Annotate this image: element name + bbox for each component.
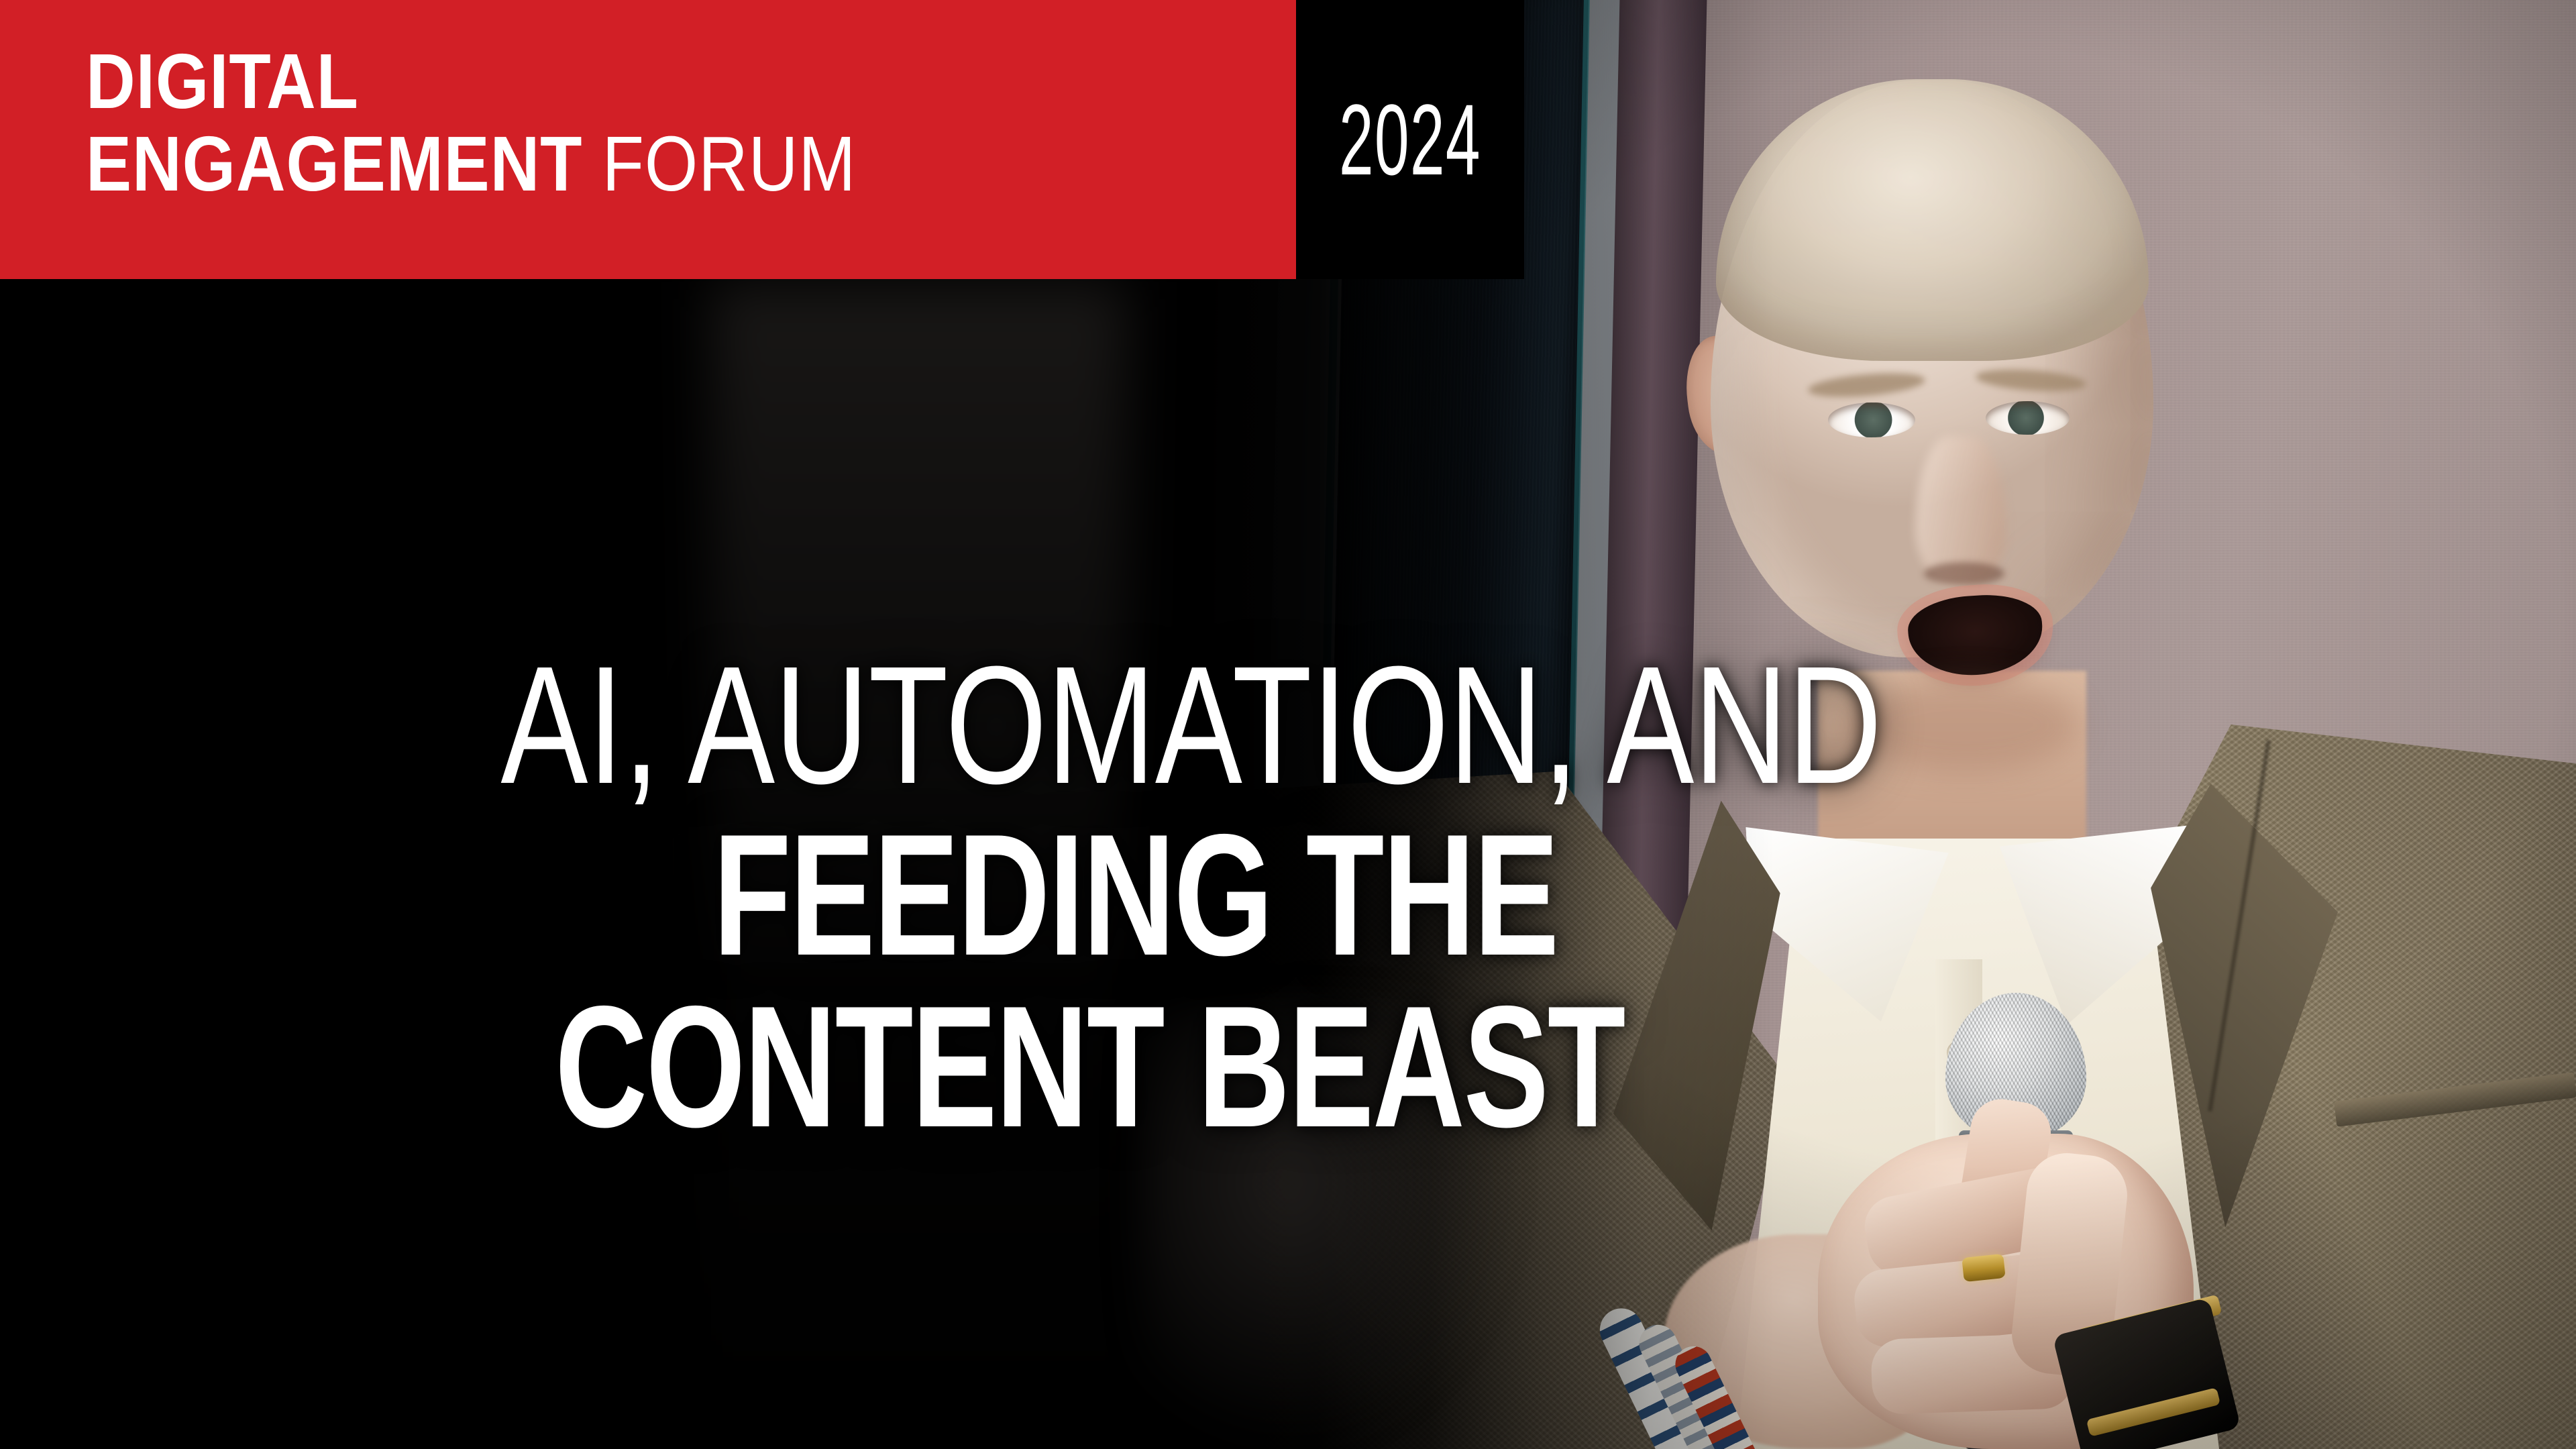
year-label: 2024 bbox=[1339, 82, 1481, 198]
brand-line-engagement-forum: ENGAGEMENT FORUM bbox=[86, 128, 856, 200]
brand-line-digital: DIGITAL bbox=[86, 46, 856, 117]
event-banner: DIGITAL ENGAGEMENT FORUM bbox=[0, 0, 1296, 279]
title-line-3: CONTENT BEAST bbox=[555, 983, 1558, 1150]
title-line-2: FEEDING THE bbox=[555, 811, 1558, 979]
brand-word-forum: FORUM bbox=[582, 120, 856, 207]
video-title: AI, AUTOMATION, AND FEEDING THE CONTENT … bbox=[203, 644, 1558, 1150]
title-card: DIGITAL ENGAGEMENT FORUM 2024 AI, AUTOMA… bbox=[0, 0, 2576, 1449]
brand-lockup: DIGITAL ENGAGEMENT FORUM bbox=[86, 46, 961, 199]
brand-word-engagement: ENGAGEMENT bbox=[86, 120, 582, 207]
year-block: 2024 bbox=[1296, 0, 1524, 279]
title-line-1: AI, AUTOMATION, AND bbox=[500, 644, 1558, 807]
